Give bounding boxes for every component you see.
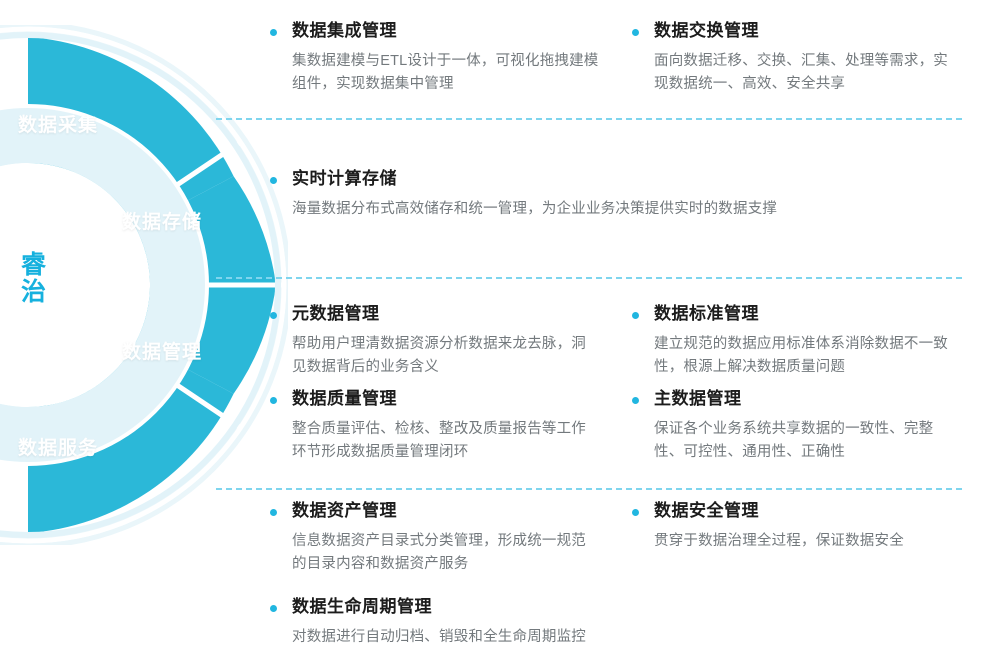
group-divider-3 (216, 488, 962, 490)
feature-head: 实时计算存储 (270, 168, 970, 191)
feature-description: 集数据建模与ETL设计于一体，可视化拖拽建模组件，实现数据集中管理 (292, 50, 600, 97)
bullet-dot-icon (270, 509, 277, 516)
feature-item-asset[interactable]: 数据资产管理 信息数据资产目录式分类管理，形成统一规范的目录内容和数据资产服务 (270, 500, 600, 577)
bullet-dot-icon (270, 29, 277, 36)
bullet-dot-icon (632, 312, 639, 319)
feature-title: 数据交换管理 (654, 20, 759, 43)
feature-item-security[interactable]: 数据安全管理 贯穿于数据治理全过程，保证数据安全 (632, 500, 962, 553)
group-divider-1 (216, 118, 962, 120)
group-divider-2 (216, 277, 962, 279)
feature-description: 整合质量评估、检核、整改及质量报告等工作环节形成数据质量管理闭环 (292, 418, 600, 465)
feature-head: 主数据管理 (632, 388, 962, 411)
feature-head: 数据质量管理 (270, 388, 600, 411)
feature-title: 数据质量管理 (292, 388, 397, 411)
bullet-dot-icon (270, 312, 277, 319)
feature-title: 数据生命周期管理 (292, 596, 432, 619)
feature-title: 数据安全管理 (654, 500, 759, 523)
feature-description: 保证各个业务系统共享数据的一致性、完整性、可控性、通用性、正确性 (654, 418, 962, 465)
feature-title: 数据集成管理 (292, 20, 397, 43)
feature-head: 数据生命周期管理 (270, 596, 970, 619)
feature-title: 数据资产管理 (292, 500, 397, 523)
feature-title: 主数据管理 (654, 388, 742, 411)
bullet-dot-icon (632, 29, 639, 36)
feature-head: 元数据管理 (270, 303, 600, 326)
feature-description: 帮助用户理清数据资源分析数据来龙去脉，洞见数据背后的业务含义 (292, 333, 600, 380)
feature-item-exchange[interactable]: 数据交换管理 面向数据迁移、交换、汇集、处理等需求，实现数据统一、高效、安全共享 (632, 20, 962, 97)
feature-head: 数据集成管理 (270, 20, 600, 43)
feature-title: 实时计算存储 (292, 168, 397, 191)
feature-description: 海量数据分布式高效储存和统一管理，为企业业务决策提供实时的数据支撑 (292, 198, 970, 221)
bullet-dot-icon (270, 397, 277, 404)
feature-item-integration[interactable]: 数据集成管理 集数据建模与ETL设计于一体，可视化拖拽建模组件，实现数据集中管理 (270, 20, 600, 97)
feature-description: 对数据进行自动归档、销毁和全生命周期监控 (292, 626, 970, 649)
feature-description: 信息数据资产目录式分类管理，形成统一规范的目录内容和数据资产服务 (292, 530, 600, 577)
bullet-dot-icon (270, 177, 277, 184)
feature-item-realtime[interactable]: 实时计算存储 海量数据分布式高效储存和统一管理，为企业业务决策提供实时的数据支撑 (270, 168, 970, 221)
feature-item-lifecycle[interactable]: 数据生命周期管理 对数据进行自动归档、销毁和全生命周期监控 (270, 596, 970, 649)
feature-head: 数据资产管理 (270, 500, 600, 523)
feature-description: 建立规范的数据应用标准体系消除数据不一致性，根源上解决数据质量问题 (654, 333, 962, 380)
feature-item-master[interactable]: 主数据管理 保证各个业务系统共享数据的一致性、完整性、可控性、通用性、正确性 (632, 388, 962, 465)
feature-list: 数据集成管理 集数据建模与ETL设计于一体，可视化拖拽建模组件，实现数据集中管理… (0, 0, 986, 669)
feature-item-metadata[interactable]: 元数据管理 帮助用户理清数据资源分析数据来龙去脉，洞见数据背后的业务含义 (270, 303, 600, 380)
bullet-dot-icon (632, 397, 639, 404)
feature-title: 数据标准管理 (654, 303, 759, 326)
feature-item-standard[interactable]: 数据标准管理 建立规范的数据应用标准体系消除数据不一致性，根源上解决数据质量问题 (632, 303, 962, 380)
feature-item-quality[interactable]: 数据质量管理 整合质量评估、检核、整改及质量报告等工作环节形成数据质量管理闭环 (270, 388, 600, 465)
bullet-dot-icon (270, 605, 277, 612)
bullet-dot-icon (632, 509, 639, 516)
feature-head: 数据标准管理 (632, 303, 962, 326)
feature-head: 数据安全管理 (632, 500, 962, 523)
feature-description: 贯穿于数据治理全过程，保证数据安全 (654, 530, 962, 553)
feature-description: 面向数据迁移、交换、汇集、处理等需求，实现数据统一、高效、安全共享 (654, 50, 962, 97)
feature-head: 数据交换管理 (632, 20, 962, 43)
feature-title: 元数据管理 (292, 303, 380, 326)
